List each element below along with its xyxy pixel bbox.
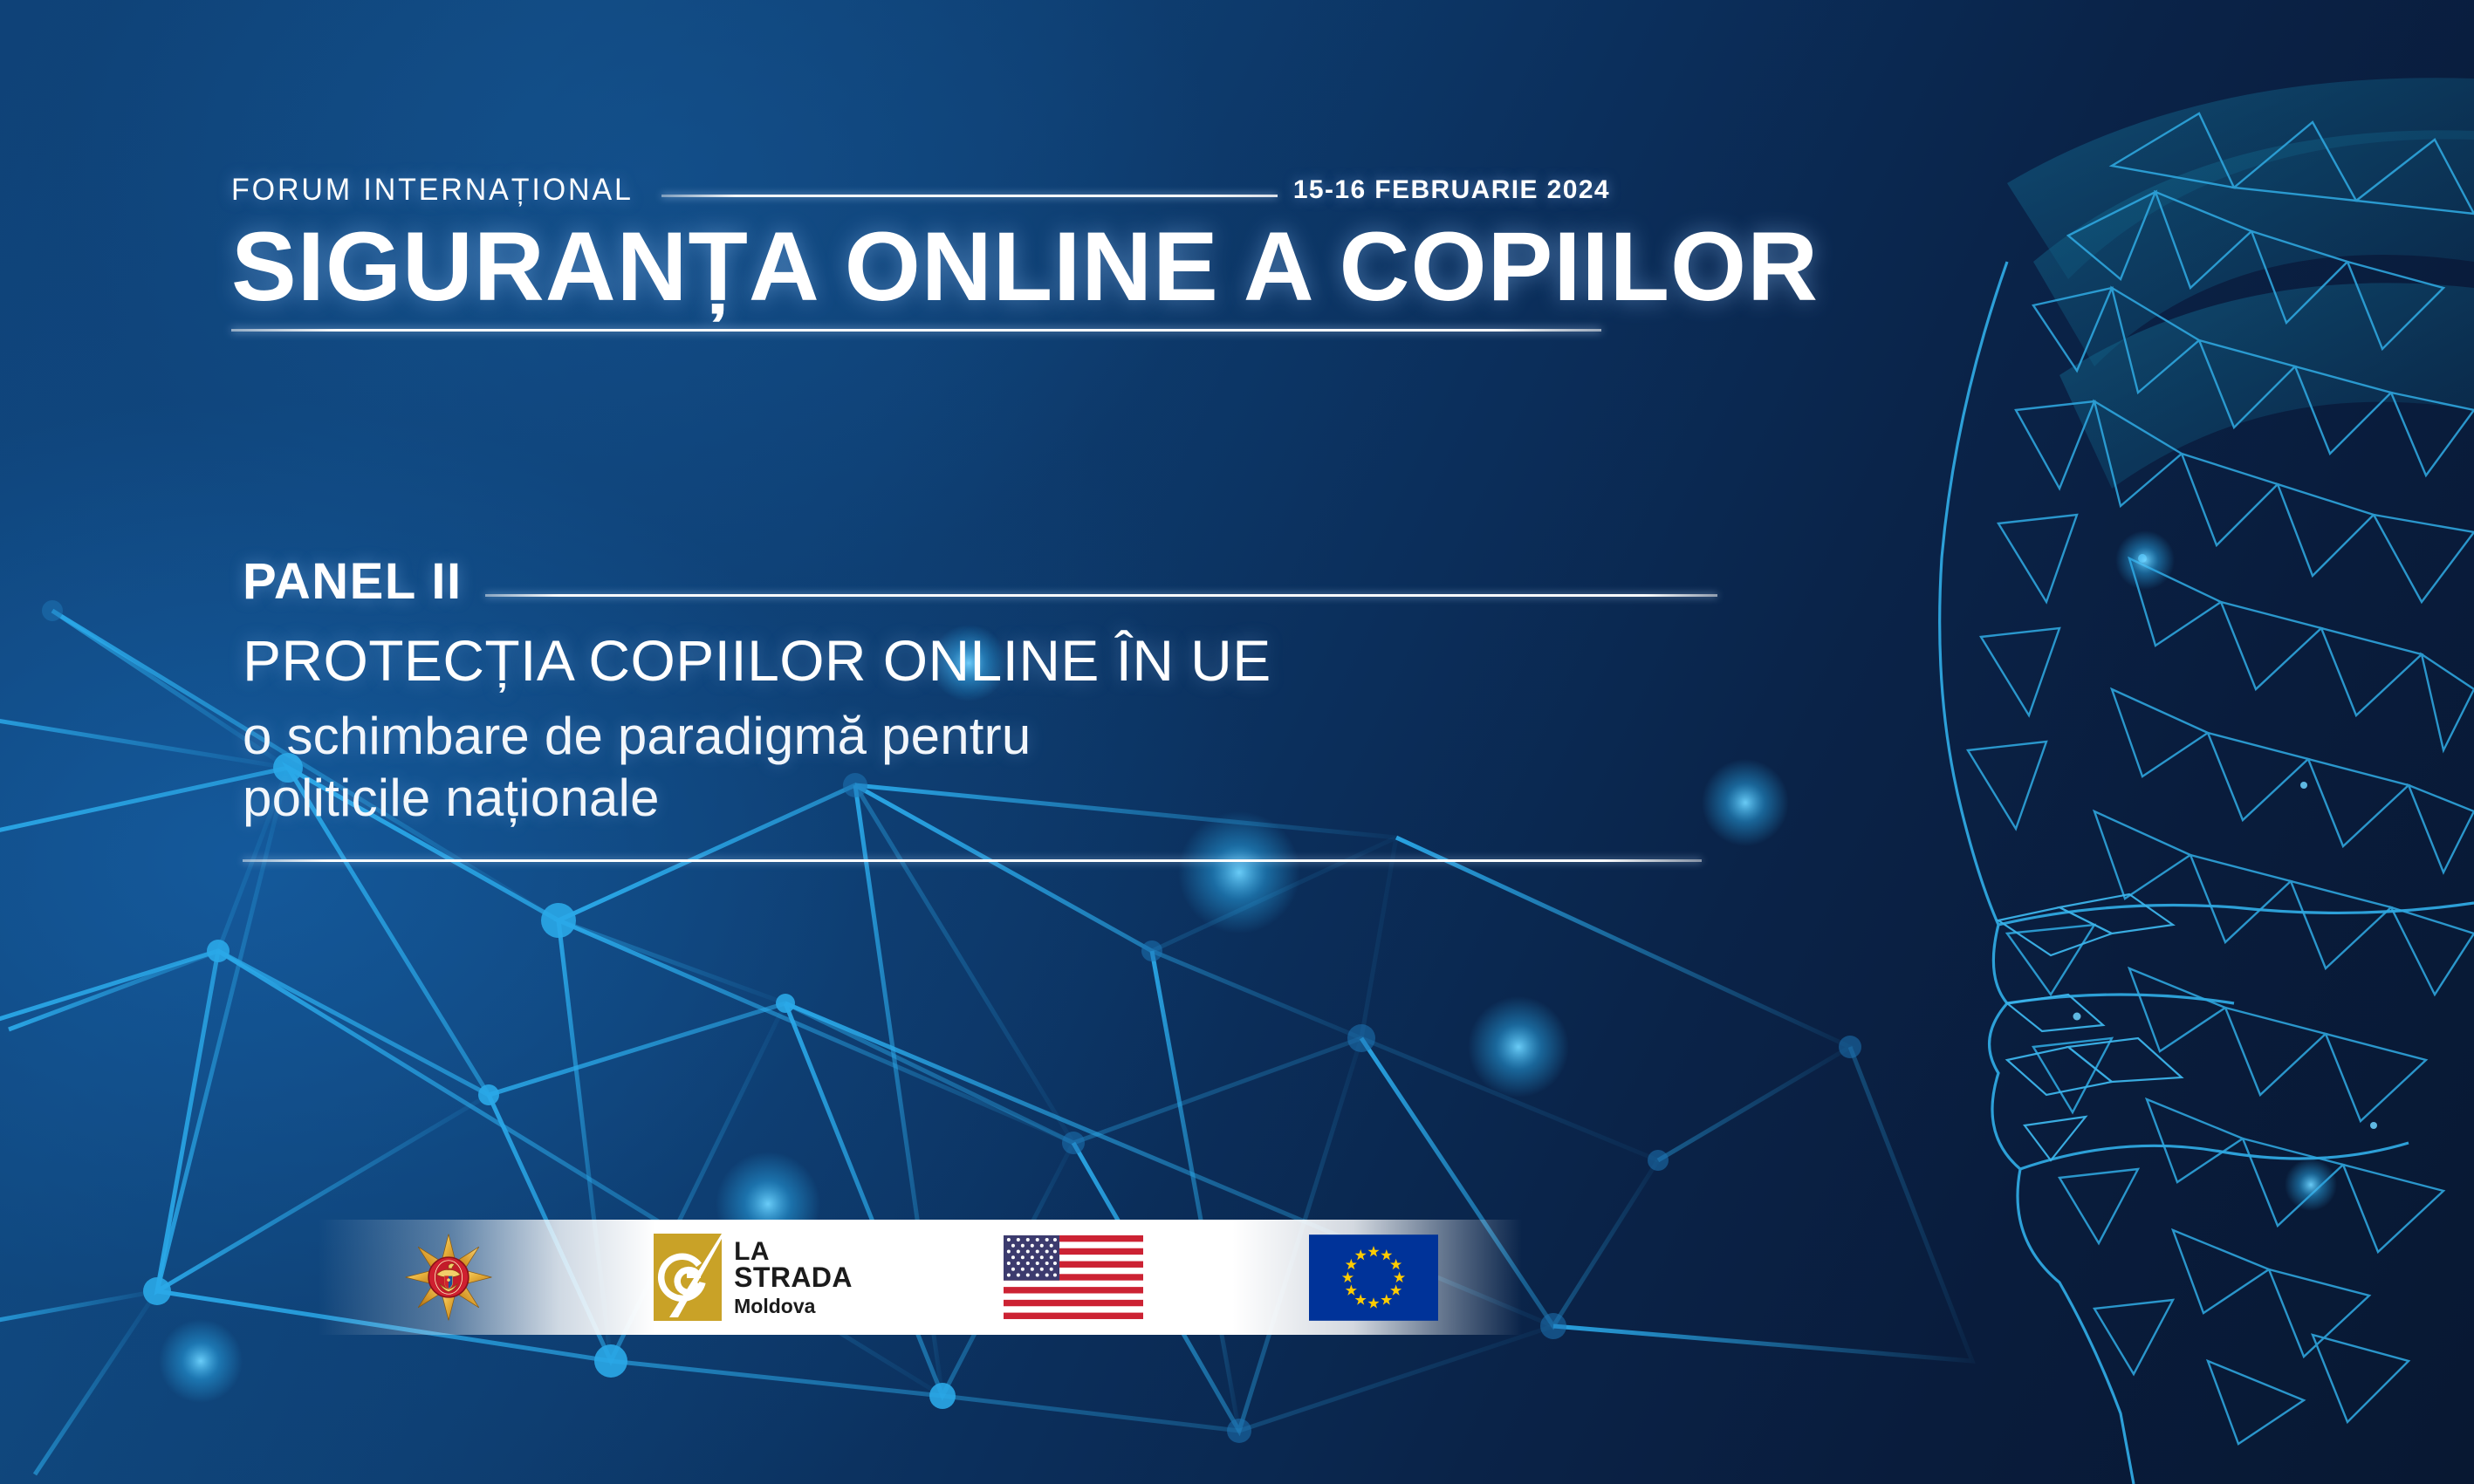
la-strada-line-la: LA (734, 1239, 853, 1264)
event-date: 15-16 FEBRUARIE 2024 (1293, 177, 1610, 203)
header-top-row: FORUM INTERNAȚIONAL 15-16 FEBRUARIE 2024 (231, 174, 1610, 205)
panel-heading: PROTECȚIA COPIILOR ONLINE ÎN UE (243, 630, 1717, 692)
header-divider-rule (661, 195, 1278, 197)
panel-subtitle-line-2: politicile naționale (243, 768, 1717, 830)
european-union-flag-icon (1309, 1234, 1438, 1321)
event-kicker: FORUM INTERNAȚIONAL (231, 174, 634, 205)
la-strada-logo: LA STRADA Moldova (654, 1234, 853, 1321)
la-strada-spiral-icon (654, 1234, 722, 1321)
panel-subtitle: o schimbare de paradigmă pentru politici… (243, 706, 1717, 830)
logo-slot-usa-flag (942, 1220, 1204, 1335)
event-title: SIGURANȚA ONLINE A COPIILOR (231, 217, 1610, 317)
panel-bottom-rule (243, 859, 1702, 862)
panel-divider-rule (485, 594, 1717, 597)
partner-logo-bar: LA STRADA Moldova (318, 1220, 1522, 1335)
panel-subtitle-line-1: o schimbare de paradigmă pentru (243, 706, 1717, 768)
event-header: FORUM INTERNAȚIONAL 15-16 FEBRUARIE 2024… (231, 174, 1610, 332)
panel-label: PANEL II (243, 557, 463, 607)
title-underline-rule (231, 329, 1601, 332)
la-strada-wordmark: LA STRADA Moldova (734, 1239, 853, 1316)
la-strada-line-strada: STRADA (734, 1264, 853, 1291)
presentation-slide: FORUM INTERNAȚIONAL 15-16 FEBRUARIE 2024… (0, 0, 2474, 1484)
panel-label-row: PANEL II (243, 557, 1717, 607)
la-strada-line-moldova: Moldova (734, 1296, 853, 1316)
panel-block: PANEL II PROTECȚIA COPIILOR ONLINE ÎN UE… (243, 557, 1717, 862)
police-moldova-emblem-icon (403, 1232, 494, 1323)
logo-slot-la-strada: LA STRADA Moldova (609, 1220, 897, 1335)
usa-flag-icon (1004, 1235, 1143, 1319)
logo-slot-police (318, 1220, 579, 1335)
logo-slot-eu-flag (1243, 1220, 1504, 1335)
